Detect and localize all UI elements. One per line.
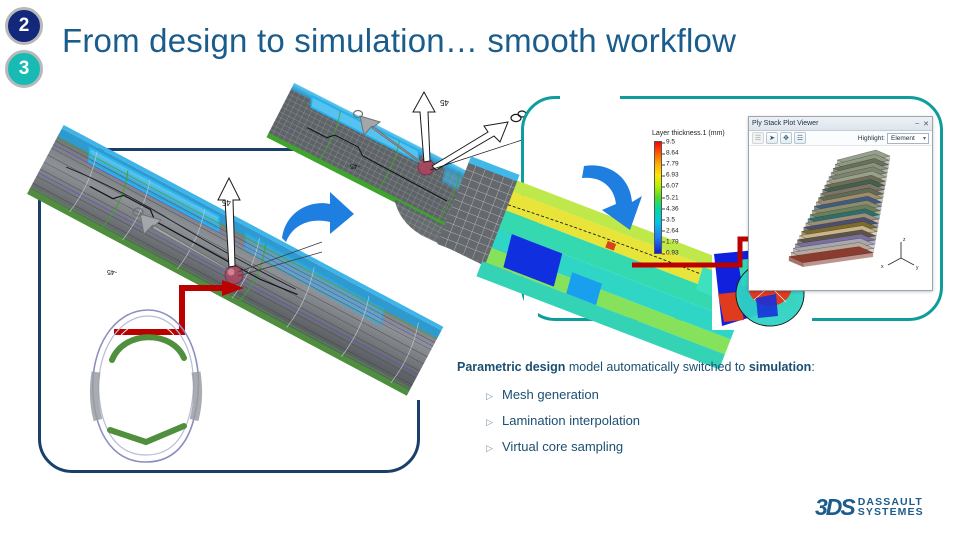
legend-tick: 6.07 (666, 183, 679, 190)
legend-tick: 5.21 (666, 194, 679, 201)
bullet-triangle-icon: ▷ (486, 417, 502, 428)
axis-label-y: y (916, 265, 919, 271)
blue-workflow-arrow-right (278, 190, 358, 250)
ply-viewer-title-bar[interactable]: Ply Stack Plot Viewer – ✕ (749, 117, 932, 131)
simulation-panel-border-gap-top (560, 94, 620, 104)
logo-wordmark: DASSAULT SYSTEMES (858, 498, 924, 517)
bullet-list: ▷Mesh generation▷Lamination interpolatio… (457, 387, 927, 454)
list-view-icon[interactable]: ☰ (752, 132, 764, 144)
ply-angle-label-45-left: 45 (222, 198, 231, 207)
legend-tick: 7.79 (666, 161, 679, 168)
dassault-systemes-logo: 3DS DASSAULT SYSTEMES (815, 494, 924, 521)
highlight-label: Highlight: (858, 135, 885, 142)
legend-title: Layer thickness.1 (mm) (652, 130, 725, 137)
bullet-item: ▷Mesh generation (486, 387, 927, 402)
ply-angle-label-minus45-detail: -45 (350, 162, 360, 169)
body-text-block: Parametric design model automatically sw… (457, 358, 927, 454)
ply-stack-3d: z x y (749, 146, 932, 289)
ply-angle-label-minus45-left: -45 (107, 268, 117, 275)
step-badge-2-label: 2 (19, 15, 30, 37)
legend-tick: 8.64 (666, 150, 679, 157)
ply-stack-icon[interactable]: ☲ (794, 132, 806, 144)
logo-line-2: SYSTEMES (858, 508, 924, 518)
bullet-label: Lamination interpolation (502, 413, 640, 428)
highlight-select[interactable]: Element (887, 133, 929, 144)
minimize-icon[interactable]: – (915, 120, 919, 127)
close-icon[interactable]: ✕ (923, 120, 929, 128)
axis-label-x: x (881, 264, 884, 270)
ply-viewer-title: Ply Stack Plot Viewer (752, 120, 818, 127)
fit-all-icon[interactable]: ✥ (780, 132, 792, 144)
bullet-item: ▷Lamination interpolation (486, 413, 927, 428)
bullet-item: ▷Virtual core sampling (486, 439, 927, 454)
step-badge-2: 2 (5, 7, 43, 45)
axis-triad-icon: z x y (881, 237, 919, 271)
legend-tick: 2.64 (666, 227, 679, 234)
bullet-label: Virtual core sampling (502, 439, 623, 454)
ply-viewer-toolbar: ☰ ➤ ✥ ☲ Highlight: Element (749, 131, 932, 146)
bullet-label: Mesh generation (502, 387, 599, 402)
pointer-select-icon[interactable]: ➤ (766, 132, 778, 144)
blue-workflow-arrow-down (578, 162, 642, 242)
step-badge-3-label: 3 (19, 58, 30, 80)
legend-tick: 6.93 (666, 172, 679, 179)
axis-label-z: z (903, 237, 906, 243)
bullet-triangle-icon: ▷ (486, 443, 502, 454)
step-badge-3: 3 (5, 50, 43, 88)
legend-tick: 4.36 (666, 205, 679, 212)
intro-line: Parametric design model automatically sw… (457, 358, 927, 376)
intro-bold-1: Parametric design (457, 360, 565, 374)
bullet-triangle-icon: ▷ (486, 391, 502, 402)
intro-bold-2: simulation (749, 360, 812, 374)
ply-angle-label-45-detail: 45 (440, 98, 449, 107)
page-title: From design to simulation… smooth workfl… (62, 22, 736, 60)
3ds-logo-mark: 3DS (815, 494, 854, 521)
intro-middle: model automatically switched to (565, 360, 748, 374)
legend-tick: 9.5 (666, 139, 675, 146)
ply-stack-canvas[interactable]: z x y (749, 146, 932, 289)
ply-stack-plot-viewer-window[interactable]: Ply Stack Plot Viewer – ✕ ☰ ➤ ✥ ☲ Highli… (748, 116, 933, 291)
intro-end: : (811, 360, 814, 374)
legend-tick: 3.5 (666, 216, 675, 223)
